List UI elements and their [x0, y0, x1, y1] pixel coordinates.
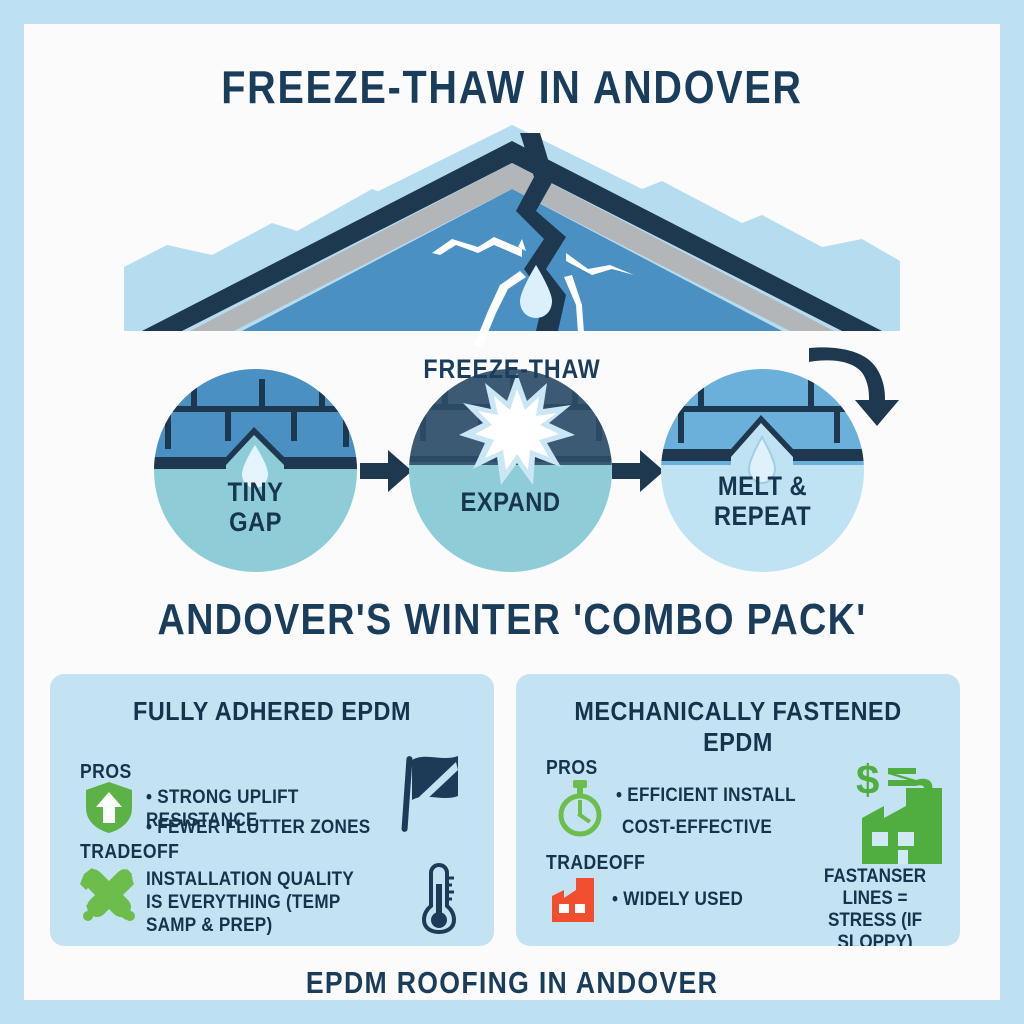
card-right-pros-item-2: COST-EFFECTIVE: [622, 816, 865, 839]
cycle-step-1-line-1: TINY: [166, 477, 345, 507]
side-caption-line-2: STRESS (IF SLOPPY): [800, 910, 949, 946]
cycle-step-expand: EXPAND: [409, 369, 612, 572]
cycle-step-2-caption: EXPAND: [421, 487, 600, 517]
card-mechanically-fastened-epdm: MECHANICALLY FASTENED EPDM PROS • EFFICI…: [516, 674, 960, 946]
cycle-step-tiny-gap: TINYGAP: [154, 369, 357, 572]
flow-arrow-1-icon: [358, 443, 414, 499]
thermometer-icon: [422, 862, 456, 939]
svg-text:$: $: [856, 756, 879, 803]
cycle-step-3-line-1: MELT &: [673, 471, 852, 501]
page-title: FREEZE-THAW IN ANDOVER: [92, 60, 931, 114]
crossed-wrenches-icon: [80, 866, 138, 929]
cycle-step-2-line-1: EXPAND: [421, 487, 600, 517]
card-right-side-caption: FASTANSER LINES =STRESS (IF SLOPPY): [800, 866, 949, 946]
section-title: ANDOVER'S WINTER 'COMBO PACK': [92, 595, 931, 645]
infographic-poster: FREEZE-THAW IN ANDOVER: [0, 0, 1024, 1024]
cycle-step-1-caption: TINYGAP: [166, 477, 345, 537]
card-right-pros-item-1: • EFFICIENT INSTALL: [616, 784, 859, 807]
shield-up-arrow-icon: [84, 780, 134, 839]
cycle-step-3-caption: MELT &REPEAT: [673, 471, 852, 531]
card-left-pros-item-2: • FEWER FLUTTER ZONES: [146, 816, 398, 839]
cycle-step-3-line-2: REPEAT: [673, 501, 852, 531]
cycle-label: FREEZE-THAW: [92, 354, 931, 385]
card-left-tradeoff-label: TRADEOFF: [80, 841, 179, 864]
cycle-step-1-line-2: GAP: [166, 507, 345, 537]
card-fully-adhered-epdm: FULLY ADHERED EPDM PROS • STRONG UPLIFT …: [50, 674, 494, 946]
side-caption-line-1: FASTANSER LINES =: [800, 866, 949, 910]
poster-inner-canvas: FREEZE-THAW IN ANDOVER: [24, 24, 1000, 1000]
card-left-title: FULLY ADHERED EPDM: [72, 696, 472, 727]
card-right-pros-label: PROS: [546, 757, 598, 780]
cracked-roof-icon: [122, 119, 902, 349]
flow-arrow-2-icon: [610, 443, 666, 499]
footer-title: EPDM ROOFING IN ANDOVER: [92, 965, 931, 1000]
card-left-tradeoff-text: INSTALLATION QUALITY IS EVERYTHING (TEMP…: [146, 868, 371, 937]
flag-icon: [398, 752, 464, 837]
card-right-tradeoff-text: • WIDELY USED: [612, 888, 810, 911]
factory-icon: [550, 878, 598, 927]
dollar-factory-icon: $: [854, 756, 950, 873]
stopwatch-icon: [552, 778, 608, 843]
card-right-tradeoff-label: TRADEOFF: [546, 852, 645, 875]
card-right-title: MECHANICALLY FASTENED EPDM: [538, 696, 938, 758]
